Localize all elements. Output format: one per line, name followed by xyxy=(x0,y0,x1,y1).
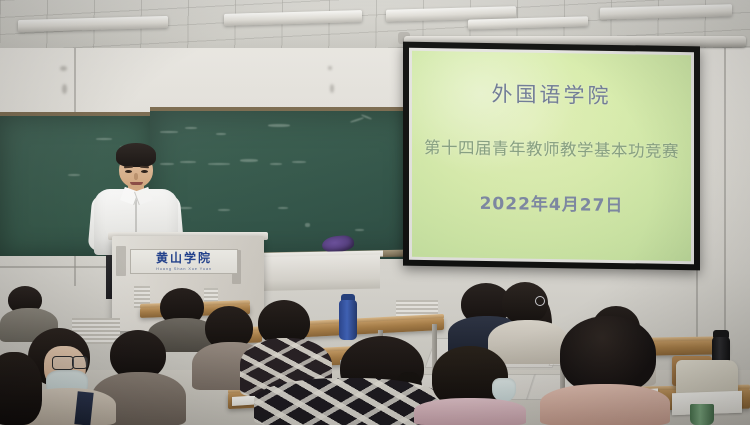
hair-clip xyxy=(535,296,545,306)
lectern-name-plate: 黄山学院 Huang Shan Xue Yuan xyxy=(130,249,238,274)
chalk-mark xyxy=(350,117,364,123)
eyeglasses xyxy=(72,356,88,369)
green-cup xyxy=(690,404,714,425)
chalk-mark xyxy=(278,207,288,209)
chalk-mark xyxy=(185,127,197,129)
wall-mark xyxy=(328,66,332,70)
student-head xyxy=(560,316,656,394)
projection-screen-frame: 外国语学院 第十四届青年教师教学基本功竞赛 2022年4月27日 xyxy=(403,42,700,271)
eyeglasses xyxy=(52,356,74,370)
wall-mark xyxy=(60,66,67,71)
presenter-eye-left xyxy=(125,170,132,173)
chalk-mark xyxy=(208,163,230,165)
presenter-mouth xyxy=(130,182,143,185)
blue-water-bottle xyxy=(339,300,357,340)
chalk-mark xyxy=(216,133,226,135)
projection-screen-border: 外国语学院 第十四届青年教师教学基本功竞赛 2022年4月27日 xyxy=(409,48,694,264)
lectern-panel xyxy=(116,246,126,276)
chalk-mark xyxy=(268,124,290,127)
chalk-mark xyxy=(96,138,112,140)
chalk-mark xyxy=(292,161,306,163)
presenter-eye-right xyxy=(141,170,148,173)
slide-subtitle: 第十四届青年教师教学基本功竞赛 xyxy=(412,134,691,162)
student-shoulders xyxy=(414,398,526,425)
chalk-mark xyxy=(355,229,364,231)
chalk-mark xyxy=(68,174,80,176)
student-shoulders xyxy=(540,384,670,425)
chalk-mark xyxy=(270,163,282,165)
presenter-nose xyxy=(134,173,138,180)
lectern-sign-chinese: 黄山学院 xyxy=(131,251,237,266)
backpack-strap xyxy=(74,391,93,425)
presenter-hair xyxy=(116,143,156,167)
slide-title: 外国语学院 xyxy=(412,77,691,111)
chalk-mark xyxy=(218,209,230,211)
wall-mark xyxy=(330,84,334,93)
chalk-mark xyxy=(160,131,178,133)
projection-screen: 外国语学院 第十四届青年教师教学基本功竞赛 2022年4月27日 xyxy=(412,51,691,261)
wall-mark xyxy=(62,84,67,94)
slide-date: 2022年4月27日 xyxy=(412,188,691,217)
classroom-photo: 外国语学院 第十四届青年教师教学基本功竞赛 2022年4月27日 xyxy=(0,0,750,425)
chalk-mark xyxy=(305,223,310,227)
lectern-sign-pinyin: Huang Shan Xue Yuan xyxy=(131,266,237,271)
wall-seam xyxy=(724,48,726,338)
chalk-mark xyxy=(240,159,258,162)
student-head xyxy=(0,352,42,425)
